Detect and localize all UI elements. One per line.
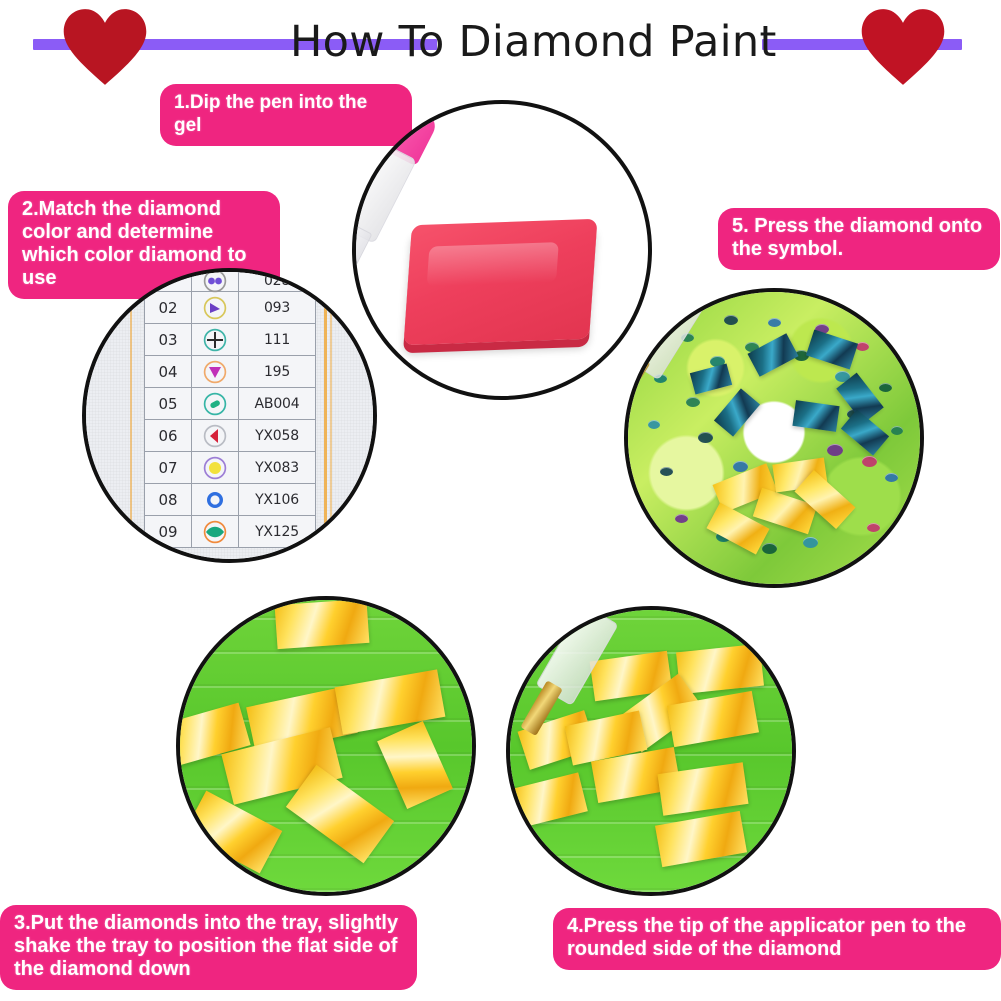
- mosaic-symbol: [803, 537, 818, 548]
- legend-row-number: 07: [144, 452, 192, 483]
- mosaic-symbol: [660, 467, 673, 476]
- legend-row-code: 111: [239, 324, 316, 355]
- legend-row-number: 05: [144, 388, 192, 419]
- step-label-3: 3.Put the diamonds into the tray, slight…: [0, 905, 417, 990]
- ring-icon: [192, 484, 239, 515]
- heart-icon: [62, 7, 148, 87]
- heart-icon: [860, 7, 946, 87]
- margin-rule: [324, 272, 327, 559]
- legend-row-number: 02: [144, 292, 192, 323]
- photo-pen-picks-up-diamond: [506, 606, 796, 896]
- photo-color-legend-chart: 02802093031110419505AB00406YX05807YX0830…: [82, 268, 377, 563]
- mosaic-symbol: [698, 432, 713, 443]
- filled-circle-icon: [192, 452, 239, 483]
- legend-row-number: 03: [144, 324, 192, 355]
- legend-row-code: YX106: [239, 484, 316, 515]
- yellow-diamond: [676, 644, 764, 695]
- pen-tip-gold: [624, 354, 650, 409]
- capsule-icon: [192, 388, 239, 419]
- mosaic-symbol: [768, 318, 781, 327]
- legend-row-code: YX125: [239, 516, 316, 547]
- mosaic-symbol: [891, 426, 903, 435]
- legend-row-code: 028: [239, 271, 316, 291]
- mosaic-symbol: [686, 397, 700, 407]
- legend-row-number: 08: [144, 484, 192, 515]
- mosaic-symbol: [762, 543, 777, 554]
- leaf-icon: [192, 516, 239, 547]
- mosaic-symbol: [648, 420, 660, 429]
- triangle-icon: [192, 292, 239, 323]
- legend-row: 09YX125: [144, 516, 316, 548]
- legend-row-code: YX058: [239, 420, 316, 451]
- placed-rhinestone: [793, 400, 840, 432]
- legend-row-code: YX083: [239, 452, 316, 483]
- page-title: How To Diamond Paint: [290, 14, 740, 70]
- placed-rhinestone: [806, 329, 858, 369]
- legend-row-number: [144, 271, 192, 291]
- margin-rule: [330, 272, 332, 559]
- pen-tip-gold: [520, 680, 563, 736]
- legend-row-code: AB004: [239, 388, 316, 419]
- mosaic-symbol: [879, 383, 892, 392]
- photo-diamonds-in-tray: [176, 596, 476, 896]
- step-label-4: 4.Press the tip of the applicator pen to…: [553, 908, 1001, 970]
- legend-row: 028: [144, 270, 316, 292]
- legend-row-number: 09: [144, 516, 192, 547]
- infographic-canvas: How To Diamond Paint 1.Dip the pen into …: [0, 0, 1001, 1001]
- step-label-5: 5. Press the diamond onto the symbol.: [718, 208, 1000, 270]
- legend-row: 05AB004: [144, 388, 316, 420]
- legend-row-number: 06: [144, 420, 192, 451]
- legend-row: 02093: [144, 292, 316, 324]
- gel-pad: [404, 219, 598, 345]
- chevron-left-icon: [192, 420, 239, 451]
- legend-row: 04195: [144, 356, 316, 388]
- legend-row-code: 195: [239, 356, 316, 387]
- legend-row-number: 04: [144, 356, 192, 387]
- margin-rule: [130, 272, 132, 559]
- placed-rhinestone: [714, 388, 760, 436]
- plus-icon: [192, 324, 239, 355]
- mosaic-symbol: [675, 514, 688, 523]
- legend-row: 07YX083: [144, 452, 316, 484]
- legend-row-code: 093: [239, 292, 316, 323]
- photo-press-diamond-onto-symbol: [624, 288, 924, 588]
- mosaic-symbol: [867, 523, 880, 532]
- placed-rhinestone: [747, 333, 798, 377]
- double-dot-icon: [192, 271, 239, 291]
- triangle-down-icon: [192, 356, 239, 387]
- mosaic-symbol: [862, 456, 877, 467]
- mosaic-symbol: [885, 473, 898, 482]
- legend-table: 02802093031110419505AB00406YX05807YX0830…: [144, 270, 316, 548]
- legend-row: 06YX058: [144, 420, 316, 452]
- mosaic-symbol: [827, 444, 843, 456]
- mosaic-symbol: [724, 315, 738, 325]
- legend-row: 03111: [144, 324, 316, 356]
- photo-dip-pen-into-gel: [352, 100, 652, 400]
- placed-rhinestone: [690, 363, 732, 394]
- yellow-diamond: [275, 599, 370, 649]
- legend-row: 08YX106: [144, 484, 316, 516]
